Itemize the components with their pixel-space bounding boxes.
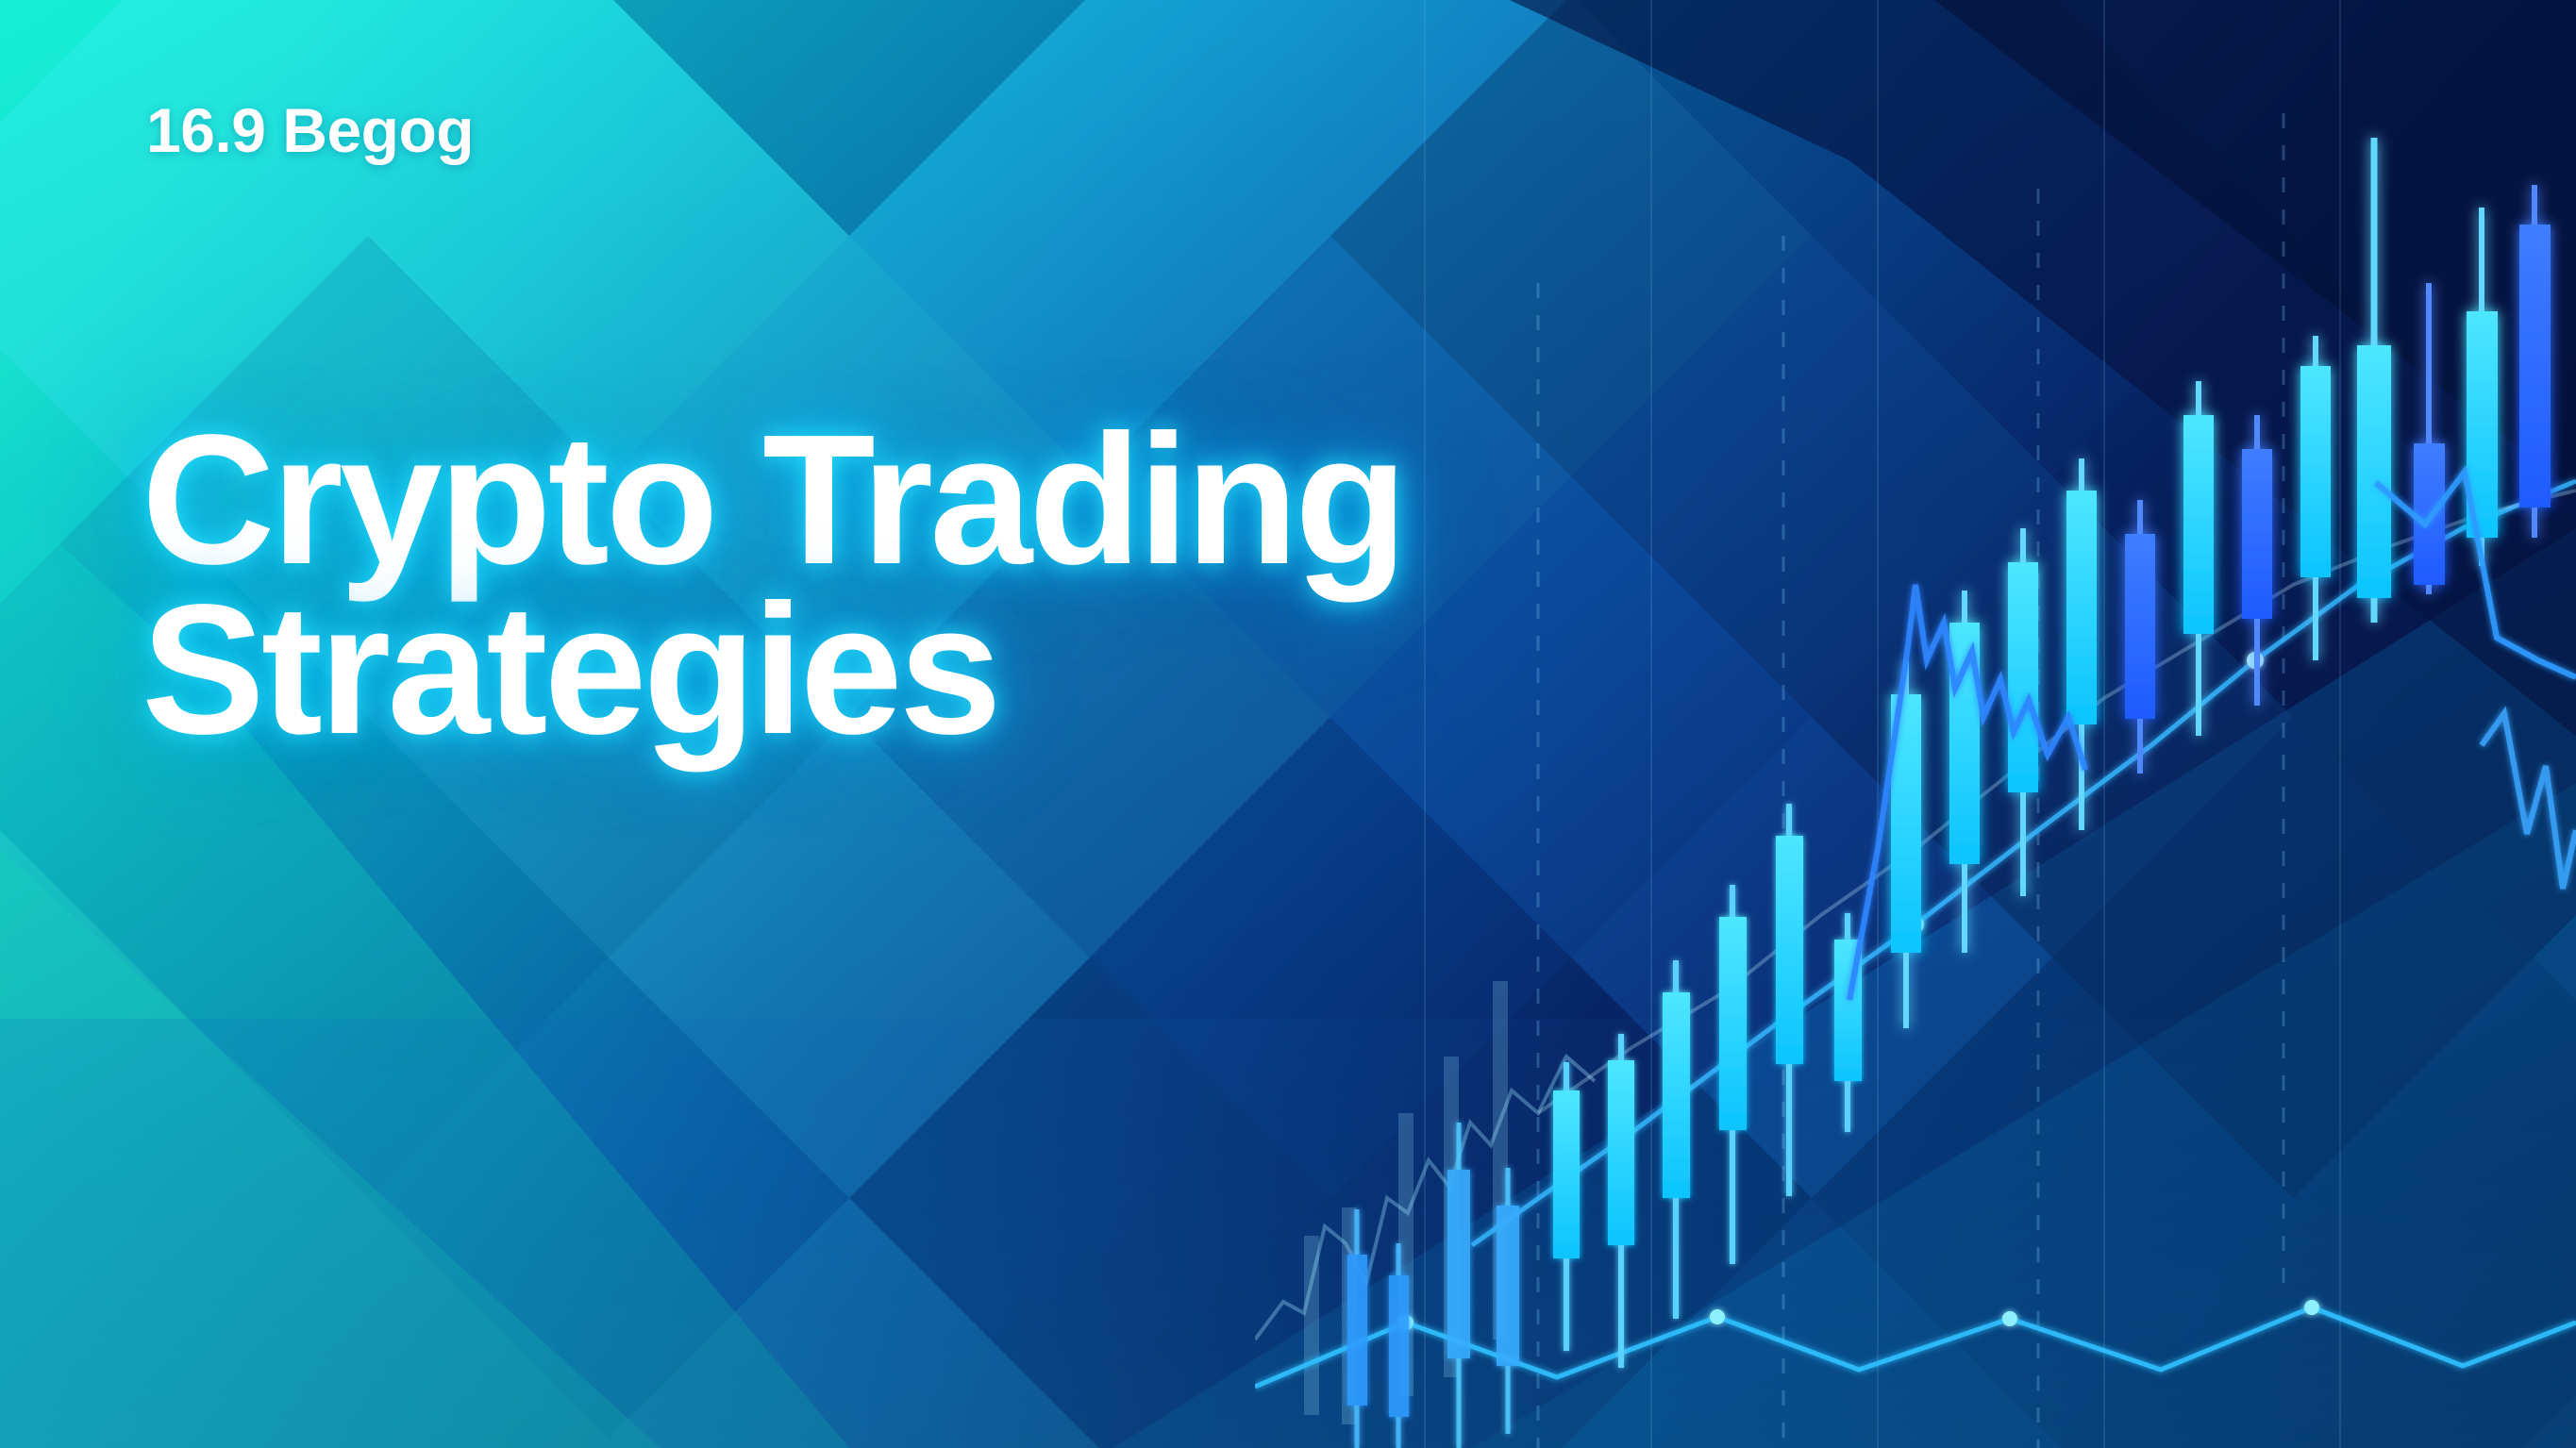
candle <box>2183 381 2214 736</box>
poster-canvas: 16.9 Begog Crypto Trading Strategies <box>0 0 2576 1448</box>
page-title: Crypto Trading Strategies <box>142 415 1557 756</box>
right-lower-zigzag <box>2482 713 2576 889</box>
candle <box>1608 1034 1634 1368</box>
brand-logo-text[interactable]: 16.9 Begog <box>146 99 474 161</box>
page-title-line-2: Strategies <box>142 585 1557 755</box>
page-title-line-1: Crypto Trading <box>142 415 1557 585</box>
candle <box>1553 1062 1580 1351</box>
candle <box>1663 960 1690 1319</box>
candle <box>2242 415 2272 706</box>
candle <box>1949 591 1980 953</box>
candle-group-upper <box>1891 138 2551 1028</box>
candle <box>2066 458 2097 830</box>
candle <box>2357 138 2391 623</box>
candle <box>2125 500 2155 774</box>
candle <box>2414 283 2445 594</box>
candle <box>1719 885 1747 1264</box>
candle <box>2519 185 2551 538</box>
candle <box>1497 1168 1519 1434</box>
candle <box>1447 1123 1470 1448</box>
candle-group-mid <box>1553 804 1862 1368</box>
candle <box>1776 804 1803 1196</box>
